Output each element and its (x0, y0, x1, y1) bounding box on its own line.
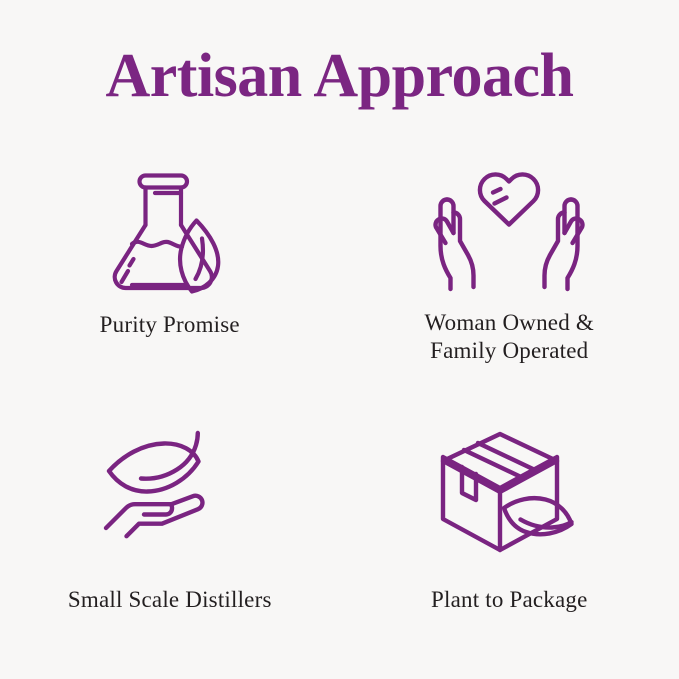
hands-heart-icon (434, 160, 584, 295)
feature-caption: Woman Owned & Family Operated (425, 309, 594, 365)
artisan-approach-panel: Artisan Approach (0, 0, 679, 679)
feature-item-plant-to-package: Plant to Package (340, 405, 679, 660)
page-title: Artisan Approach (0, 44, 679, 109)
hand-leaf-icon (95, 423, 245, 558)
feature-item-small-scale: Small Scale Distillers (0, 405, 340, 660)
feature-grid: Purity Promise (0, 150, 679, 660)
feature-caption: Small Scale Distillers (68, 586, 272, 614)
feature-caption: Plant to Package (431, 586, 588, 614)
box-leaf-icon (434, 423, 584, 558)
feature-item-woman-owned: Woman Owned & Family Operated (340, 150, 679, 405)
flask-leaf-icon (95, 160, 245, 295)
feature-caption: Purity Promise (100, 311, 240, 339)
feature-item-purity-promise: Purity Promise (0, 150, 340, 405)
